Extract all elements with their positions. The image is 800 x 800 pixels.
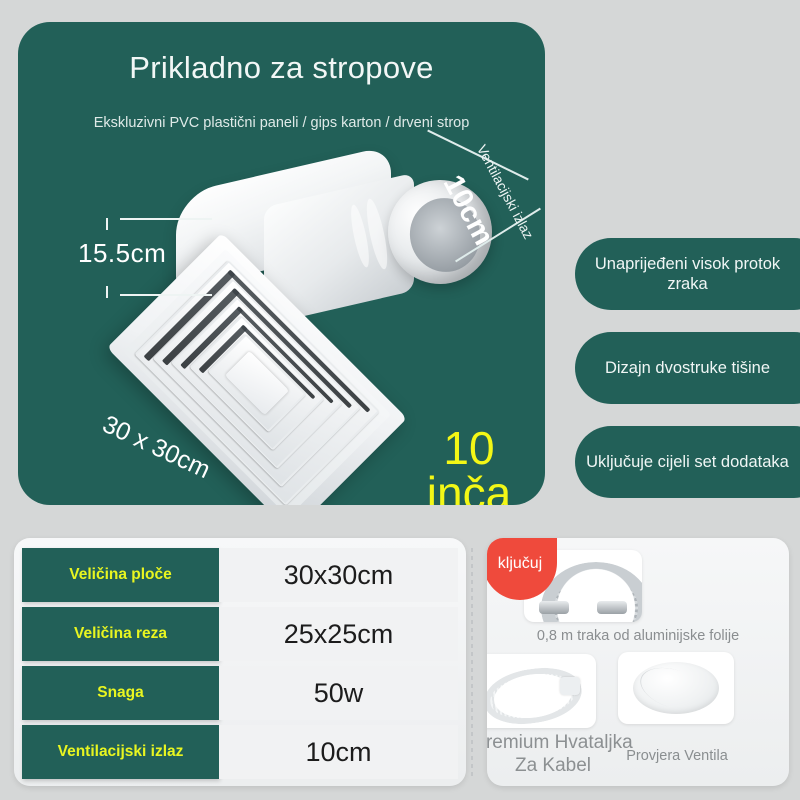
spec-value: 50w <box>219 666 458 720</box>
hero-card: Prikladno za stropove Ekskluzivni PVC pl… <box>18 22 545 505</box>
section-divider <box>471 548 473 780</box>
table-row: Ventilacijski izlaz 10cm <box>22 725 458 779</box>
spec-key: Veličina reza <box>22 607 219 661</box>
inches-callout: 10 inča <box>410 426 528 505</box>
table-row: Veličina ploče 30x30cm <box>22 548 458 602</box>
product-illustration: 15.5cm Ventilacijski izlaz 10cm 30 x 30c… <box>18 22 545 505</box>
spec-value: 25x25cm <box>219 607 458 661</box>
table-row: Snaga 50w <box>22 666 458 720</box>
spec-key: Ventilacijski izlaz <box>22 725 219 779</box>
cable-tie-head <box>560 677 580 695</box>
accessory-thumbnail-valve <box>618 652 734 724</box>
flex-duct-end <box>597 601 627 614</box>
inches-number: 10 <box>410 426 528 471</box>
table-row: Veličina reza 25x25cm <box>22 607 458 661</box>
accessories-card: ključuj 0,8 m traka od aluminijske folij… <box>487 538 789 786</box>
flex-duct-end <box>539 601 569 614</box>
includes-badge-label: ključuj <box>498 555 542 573</box>
cable-tie-icon <box>487 663 590 719</box>
spec-key: Snaga <box>22 666 219 720</box>
inches-unit: inča <box>410 471 528 505</box>
height-dimension-label: 15.5cm <box>78 238 166 269</box>
spec-key: Veličina ploče <box>22 548 219 602</box>
cable-tie-loop <box>487 662 585 728</box>
dimension-line-top <box>120 218 212 220</box>
spec-value: 10cm <box>219 725 458 779</box>
feature-badge-accessories[interactable]: Uključuje cijeli set dodataka <box>575 426 800 498</box>
feature-badge-label: Uključuje cijeli set dodataka <box>586 452 789 472</box>
check-valve-seam <box>635 660 714 718</box>
feature-badge-label: Unaprijeđeni visok protok zraka <box>575 254 800 295</box>
dimension-cap-bottom <box>106 286 108 298</box>
spec-value: 30x30cm <box>219 548 458 602</box>
dimension-line-bottom <box>120 294 212 296</box>
product-infographic: Prikladno za stropove Ekskluzivni PVC pl… <box>0 0 800 800</box>
accessory-caption: Provjera Ventila <box>609 748 745 765</box>
spec-table-card: Veličina ploče 30x30cm Veličina reza 25x… <box>14 538 466 786</box>
dimension-cap-top <box>106 218 108 230</box>
feature-badge-airflow[interactable]: Unaprijeđeni visok protok zraka <box>575 238 800 310</box>
feature-badge-label: Dizajn dvostruke tišine <box>605 358 770 378</box>
accessory-caption: 0,8 m traka od aluminijske folije <box>487 628 789 645</box>
check-valve-icon <box>633 662 719 714</box>
feature-badge-silence[interactable]: Dizajn dvostruke tišine <box>575 332 800 404</box>
accessory-thumbnail-cable-tie <box>487 654 596 728</box>
